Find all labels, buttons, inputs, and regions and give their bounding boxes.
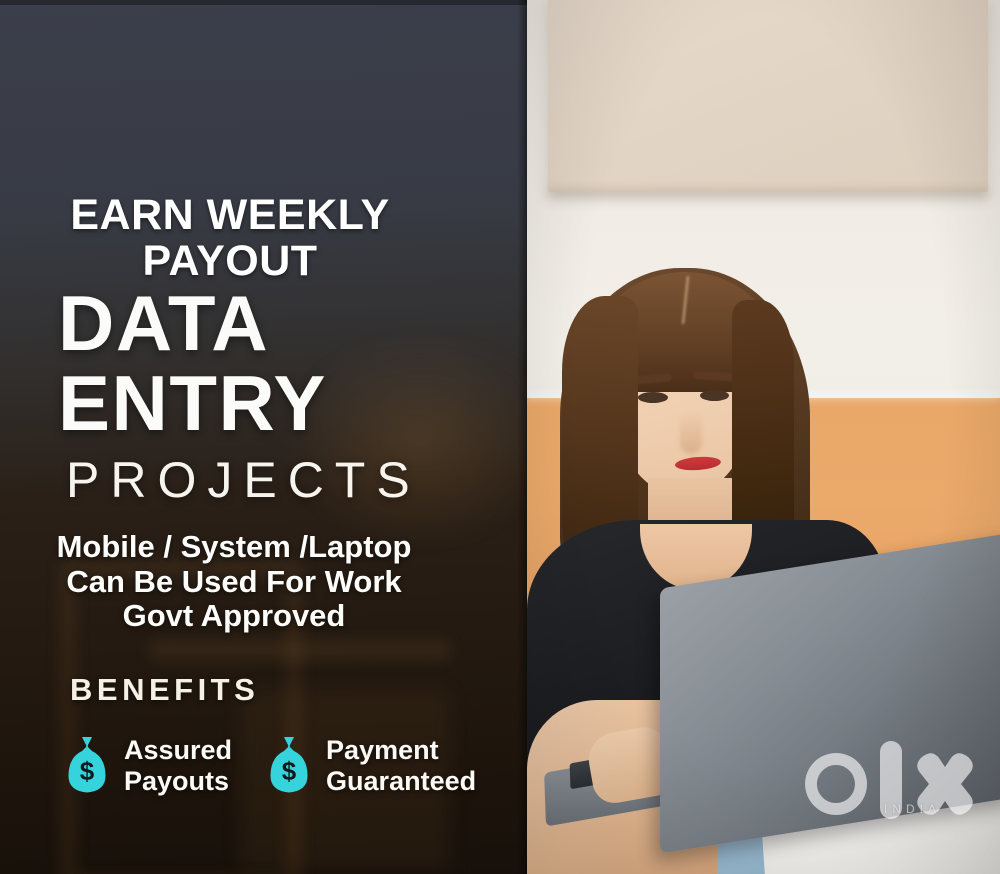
eye-left xyxy=(638,392,668,403)
subtext-line-1: Mobile / System /Laptop xyxy=(0,530,468,565)
advertisement-banner: EARN WEEKLY PAYOUT DATA ENTRY PROJECTS M… xyxy=(0,0,1000,874)
money-bag-icon: $ xyxy=(264,735,314,797)
title-data: DATA xyxy=(58,286,269,360)
headline-line-1: EARN WEEKLY xyxy=(0,194,460,237)
title-entry: ENTRY xyxy=(58,366,327,440)
wall-canvas-art xyxy=(548,0,988,192)
olx-region-label: INDIA xyxy=(884,802,941,816)
nose xyxy=(680,412,702,454)
panel-top-edge xyxy=(0,0,527,5)
benefits-heading: BENEFITS xyxy=(70,672,259,708)
eye-right xyxy=(700,390,729,401)
subtext-block: Mobile / System /Laptop Can Be Used For … xyxy=(0,530,468,634)
benefit-item: $ Payment Guaranteed xyxy=(264,735,476,797)
svg-text:$: $ xyxy=(282,756,297,786)
benefit-label: Assured Payouts xyxy=(124,735,232,797)
canvas-shadow xyxy=(548,188,988,204)
svg-text:$: $ xyxy=(80,756,95,786)
olx-logo-watermark xyxy=(800,735,975,835)
subtext-line-2: Can Be Used For Work xyxy=(0,565,468,600)
subtext-line-3: Govt Approved xyxy=(0,599,468,634)
benefits-list: $ Assured Payouts $ Payment Guaranteed xyxy=(62,735,532,797)
money-bag-icon: $ xyxy=(62,735,112,797)
headline-line-2: PAYOUT xyxy=(0,240,460,283)
olx-letter-o xyxy=(805,753,867,815)
blurred-shelf xyxy=(150,640,450,660)
benefit-label: Payment Guaranteed xyxy=(326,735,476,797)
title-projects: PROJECTS xyxy=(66,455,421,505)
benefit-label-line-2: Guaranteed xyxy=(326,766,476,797)
benefit-label-line-1: Payment xyxy=(326,735,476,766)
benefit-label-line-2: Payouts xyxy=(124,766,232,797)
benefit-label-line-1: Assured xyxy=(124,735,232,766)
benefit-item: $ Assured Payouts xyxy=(62,735,232,797)
